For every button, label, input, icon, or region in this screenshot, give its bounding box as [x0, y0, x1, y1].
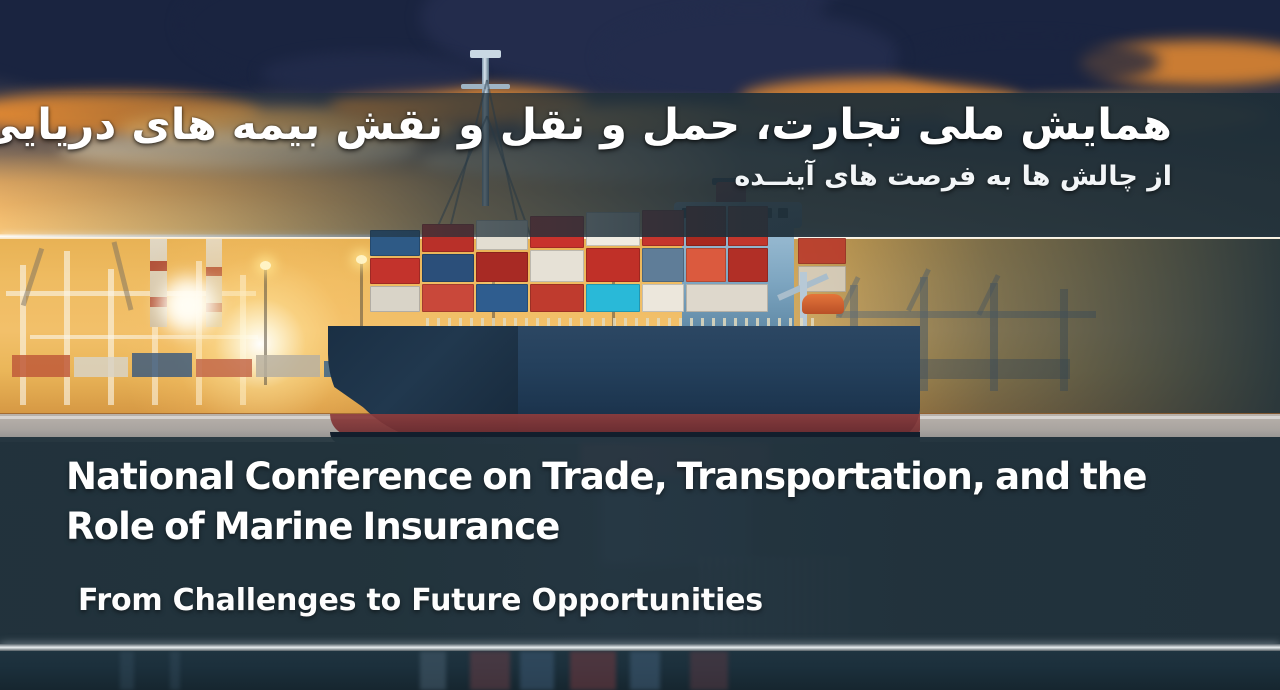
water-surface-line [0, 644, 1280, 651]
english-title: National Conference on Trade, Transporta… [66, 452, 1216, 553]
persian-subtitle: از چالش ها به فرصت های آینــده [92, 159, 1172, 194]
conference-banner: همایش ملی تجارت، حمل و نقل و نقش بیمه ها… [0, 0, 1280, 690]
persian-text-block: همایش ملی تجارت، حمل و نقل و نقش بیمه ها… [92, 100, 1172, 194]
english-subtitle: From Challenges to Future Opportunities [78, 581, 1216, 620]
water-reflection [0, 651, 1280, 690]
english-text-block: National Conference on Trade, Transporta… [66, 452, 1216, 620]
persian-title: همایش ملی تجارت، حمل و نقل و نقش بیمه ها… [92, 100, 1172, 151]
